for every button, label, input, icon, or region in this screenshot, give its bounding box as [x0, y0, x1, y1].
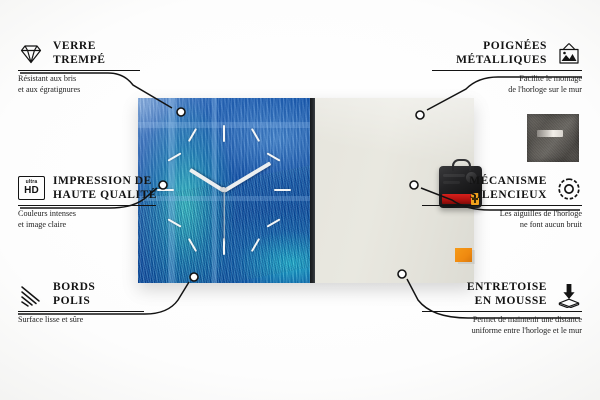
feature-poignees-metalliques: POIGNÉES MÉTALLIQUES Facilite le montage…: [432, 40, 582, 95]
feature-impression-hd-subtitle: Couleurs intenses et image claire: [18, 209, 178, 230]
ultra-hd-top-label: ultra: [26, 180, 38, 185]
metal-hanger-plate: [527, 114, 579, 162]
feature-impression-hd-title: IMPRESSION DE HAUTE QUALITÉ: [53, 175, 157, 202]
feature-mecanisme-subtitle: Les aiguilles de l'horloge ne font aucun…: [422, 209, 582, 230]
feature-mecanisme-title: MÉCANISME SILENCIEUX: [469, 175, 547, 202]
feature-poignees-title: POIGNÉES MÉTALLIQUES: [456, 40, 547, 67]
feature-bords-polis: BORDS POLIS Surface lisse et sûre: [18, 281, 178, 326]
movement-hanging-loop: [452, 159, 471, 171]
feature-verre-trempe-rule: [18, 70, 140, 71]
feature-mecanisme-rule: [422, 205, 582, 206]
ultra-hd-badge: ultra HD: [18, 176, 45, 200]
feature-bords-polis-header: BORDS POLIS: [18, 281, 178, 308]
metal-texture: [527, 114, 579, 162]
feature-entretoise-title: ENTRETOISE EN MOUSSE: [467, 281, 547, 308]
clock-second-hand: [223, 191, 224, 241]
feature-impression-hd-rule: [18, 205, 156, 206]
feature-poignees-rule: [432, 70, 582, 71]
feature-entretoise-en-mousse: ENTRETOISE EN MOUSSE Permet de maintenir…: [422, 281, 582, 336]
hour-marker-3: [274, 189, 291, 191]
feature-verre-trempe-title: VERRE TREMPÉ: [53, 40, 106, 67]
hanger-slot: [537, 130, 563, 137]
infographic-canvas: VERRE TREMPÉ Résistant aux bris et aux é…: [0, 0, 600, 400]
ultra-hd-icon: ultra HD: [18, 176, 44, 202]
polished-edges-icon: [18, 282, 44, 308]
picture-hanger-icon: [556, 41, 582, 67]
gear-icon: [556, 176, 582, 202]
ultra-hd-main-label: HD: [24, 186, 39, 196]
feature-bords-polis-title: BORDS POLIS: [53, 281, 95, 308]
hour-marker-12: [223, 125, 225, 142]
feature-poignees-subtitle: Facilite le montage de l'horloge sur le …: [432, 74, 582, 95]
feature-verre-trempe: VERRE TREMPÉ Résistant aux bris et aux é…: [18, 40, 168, 95]
foam-spacer: [455, 248, 472, 262]
diamond-icon: [18, 41, 44, 67]
clock-center-hub: [221, 187, 226, 192]
feature-bords-polis-rule: [18, 311, 144, 312]
feature-mecanisme-header: MÉCANISME SILENCIEUX: [422, 175, 582, 202]
feature-entretoise-header: ENTRETOISE EN MOUSSE: [422, 281, 582, 308]
foam-spacer-icon: [556, 282, 582, 308]
feature-entretoise-subtitle: Permet de maintenir une distance uniform…: [422, 315, 582, 336]
feature-entretoise-rule: [422, 311, 582, 312]
feature-mecanisme-silencieux: MÉCANISME SILENCIEUX Les aiguilles de l'…: [422, 175, 582, 230]
feature-poignees-header: POIGNÉES MÉTALLIQUES: [432, 40, 582, 67]
feature-bords-polis-subtitle: Surface lisse et sûre: [18, 315, 178, 326]
feature-verre-trempe-header: VERRE TREMPÉ: [18, 40, 168, 67]
feature-impression-hd: ultra HD IMPRESSION DE HAUTE QUALITÉ Cou…: [18, 175, 178, 230]
feature-verre-trempe-subtitle: Résistant aux bris et aux égratignures: [18, 74, 168, 95]
feature-impression-hd-header: ultra HD IMPRESSION DE HAUTE QUALITÉ: [18, 175, 178, 202]
